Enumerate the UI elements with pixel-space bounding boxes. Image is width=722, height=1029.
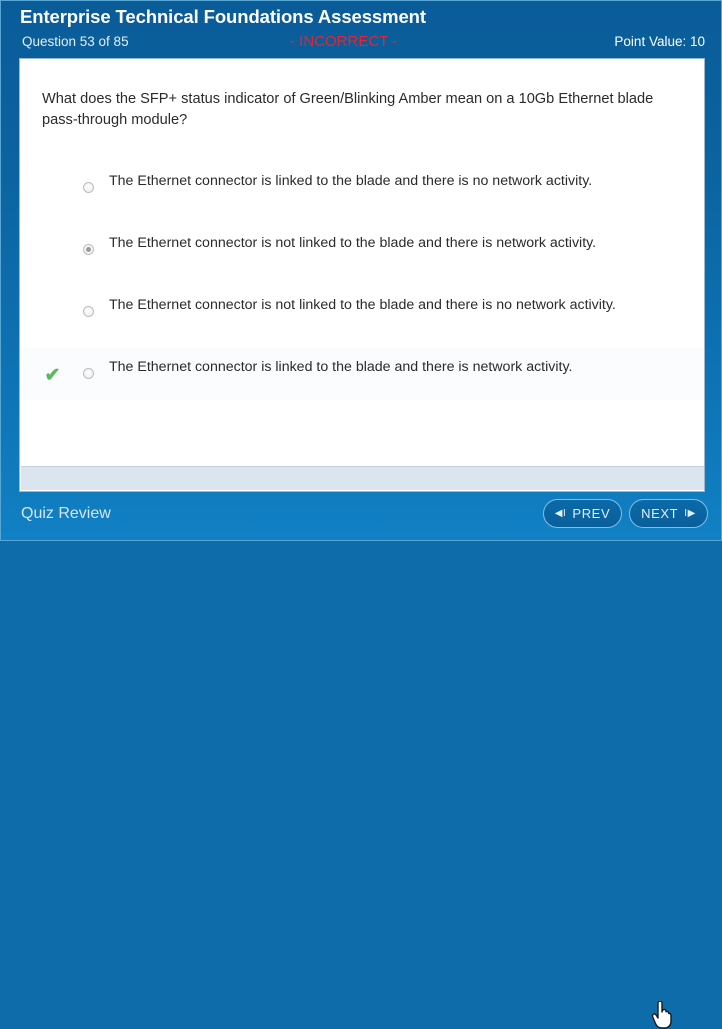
next-arrow-icon: I▶ (684, 509, 696, 519)
answer-option-label: The Ethernet connector is linked to the … (109, 171, 684, 192)
answer-option-label: The Ethernet connector is not linked to … (109, 295, 684, 316)
answer-option-row[interactable]: ✔ The Ethernet connector is not linked t… (20, 224, 704, 286)
next-button[interactable]: NEXT I▶ (629, 499, 708, 528)
quiz-title: Enterprise Technical Foundations Assessm… (20, 6, 426, 28)
prev-button-label: PREV (572, 506, 610, 521)
correct-check-icon: ✔ (44, 367, 61, 384)
answer-radio-button[interactable] (83, 306, 94, 317)
answer-radio-button[interactable] (83, 182, 94, 193)
point-value-label: Point Value: 10 (614, 34, 705, 49)
answer-option-row[interactable]: ✔ The Ethernet connector is linked to th… (20, 348, 704, 400)
answer-option-label: The Ethernet connector is linked to the … (109, 357, 684, 378)
question-counter: Question 53 of 85 (22, 34, 129, 49)
radio-dot (86, 247, 91, 252)
question-text: What does the SFP+ status indicator of G… (42, 89, 662, 131)
result-status-badge: - INCORRECT - (290, 33, 397, 50)
answer-radio-button[interactable] (83, 244, 94, 255)
hand-cursor-icon (651, 1001, 673, 1029)
answer-radio-button[interactable] (83, 368, 94, 379)
answer-option-row[interactable]: ✔ The Ethernet connector is not linked t… (20, 286, 704, 348)
prev-arrow-icon: ◀I (555, 509, 567, 519)
answer-option-label: The Ethernet connector is not linked to … (109, 233, 684, 254)
answer-options-list: ✔ The Ethernet connector is linked to th… (20, 162, 704, 400)
panel-footer-strip (21, 466, 705, 490)
quiz-header: Enterprise Technical Foundations Assessm… (1, 1, 721, 56)
quiz-review-label: Quiz Review (21, 505, 111, 523)
prev-button[interactable]: ◀I PREV (543, 499, 622, 528)
answer-option-row[interactable]: ✔ The Ethernet connector is linked to th… (20, 162, 704, 224)
next-button-label: NEXT (641, 506, 678, 521)
quiz-window: Enterprise Technical Foundations Assessm… (0, 0, 722, 541)
quiz-footer: Quiz Review ◀I PREV NEXT I▶ (1, 492, 721, 540)
question-panel: What does the SFP+ status indicator of G… (19, 58, 705, 492)
